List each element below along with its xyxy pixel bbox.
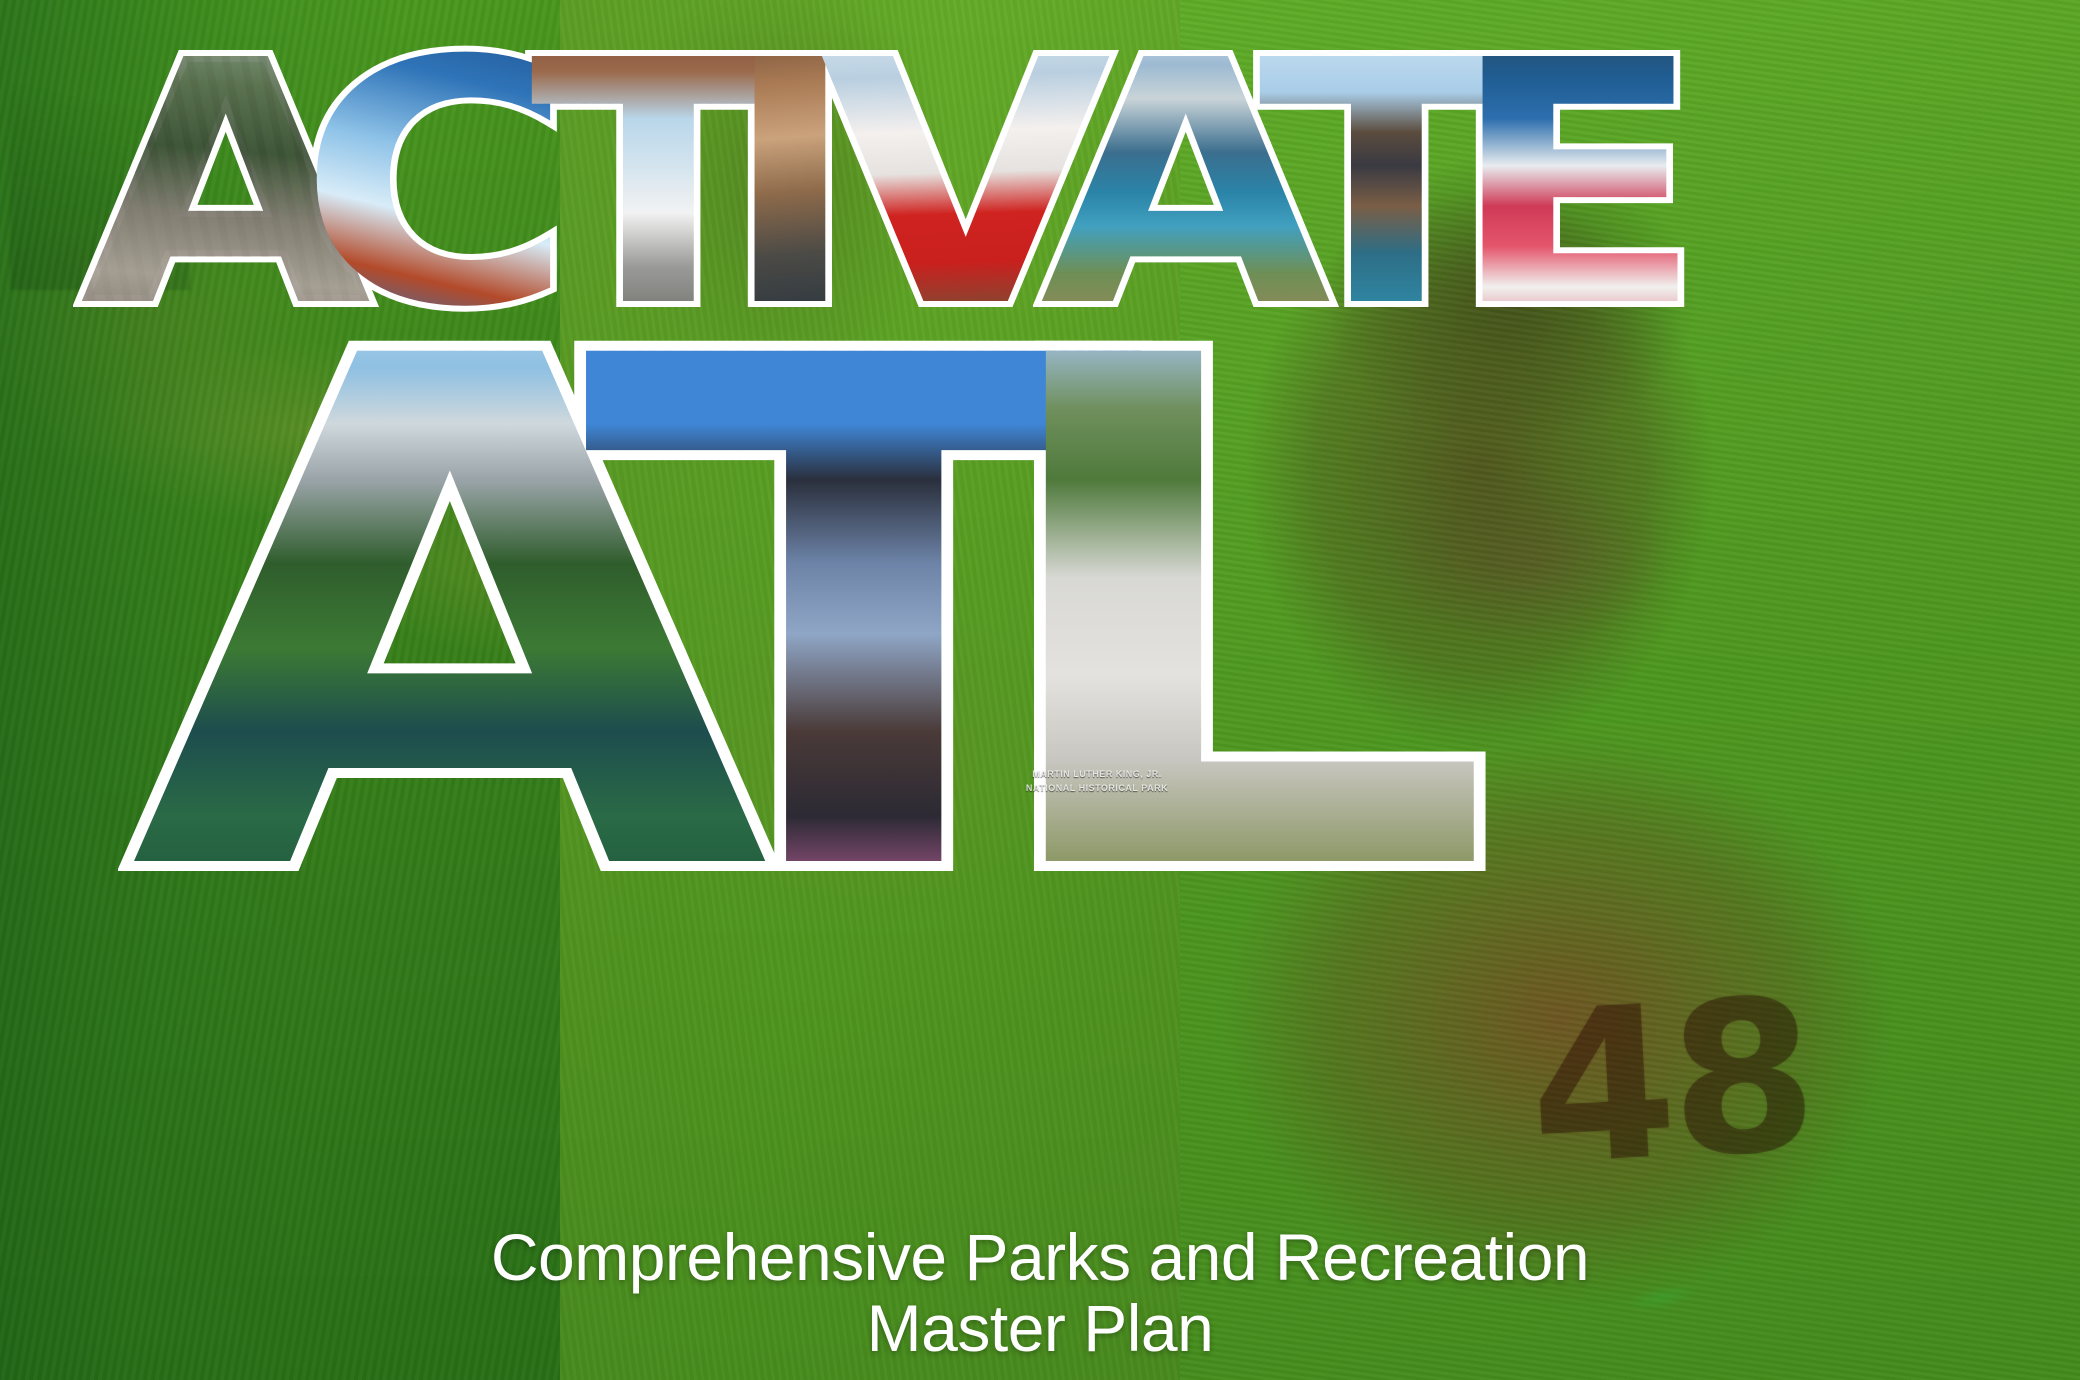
cover-artwork: 48 A A C C T T I I V V A A T T E E A A T… bbox=[0, 0, 2080, 1380]
subtitle-line-1: Comprehensive Parks and Recreation bbox=[0, 1222, 2080, 1293]
headline-atl: A A T T L L bbox=[130, 270, 1530, 830]
atl-letter-l-fill: L bbox=[970, 270, 1496, 970]
cover-subtitle: Comprehensive Parks and Recreation Maste… bbox=[0, 1222, 2080, 1365]
subtitle-line-2: Master Plan bbox=[0, 1293, 2080, 1364]
